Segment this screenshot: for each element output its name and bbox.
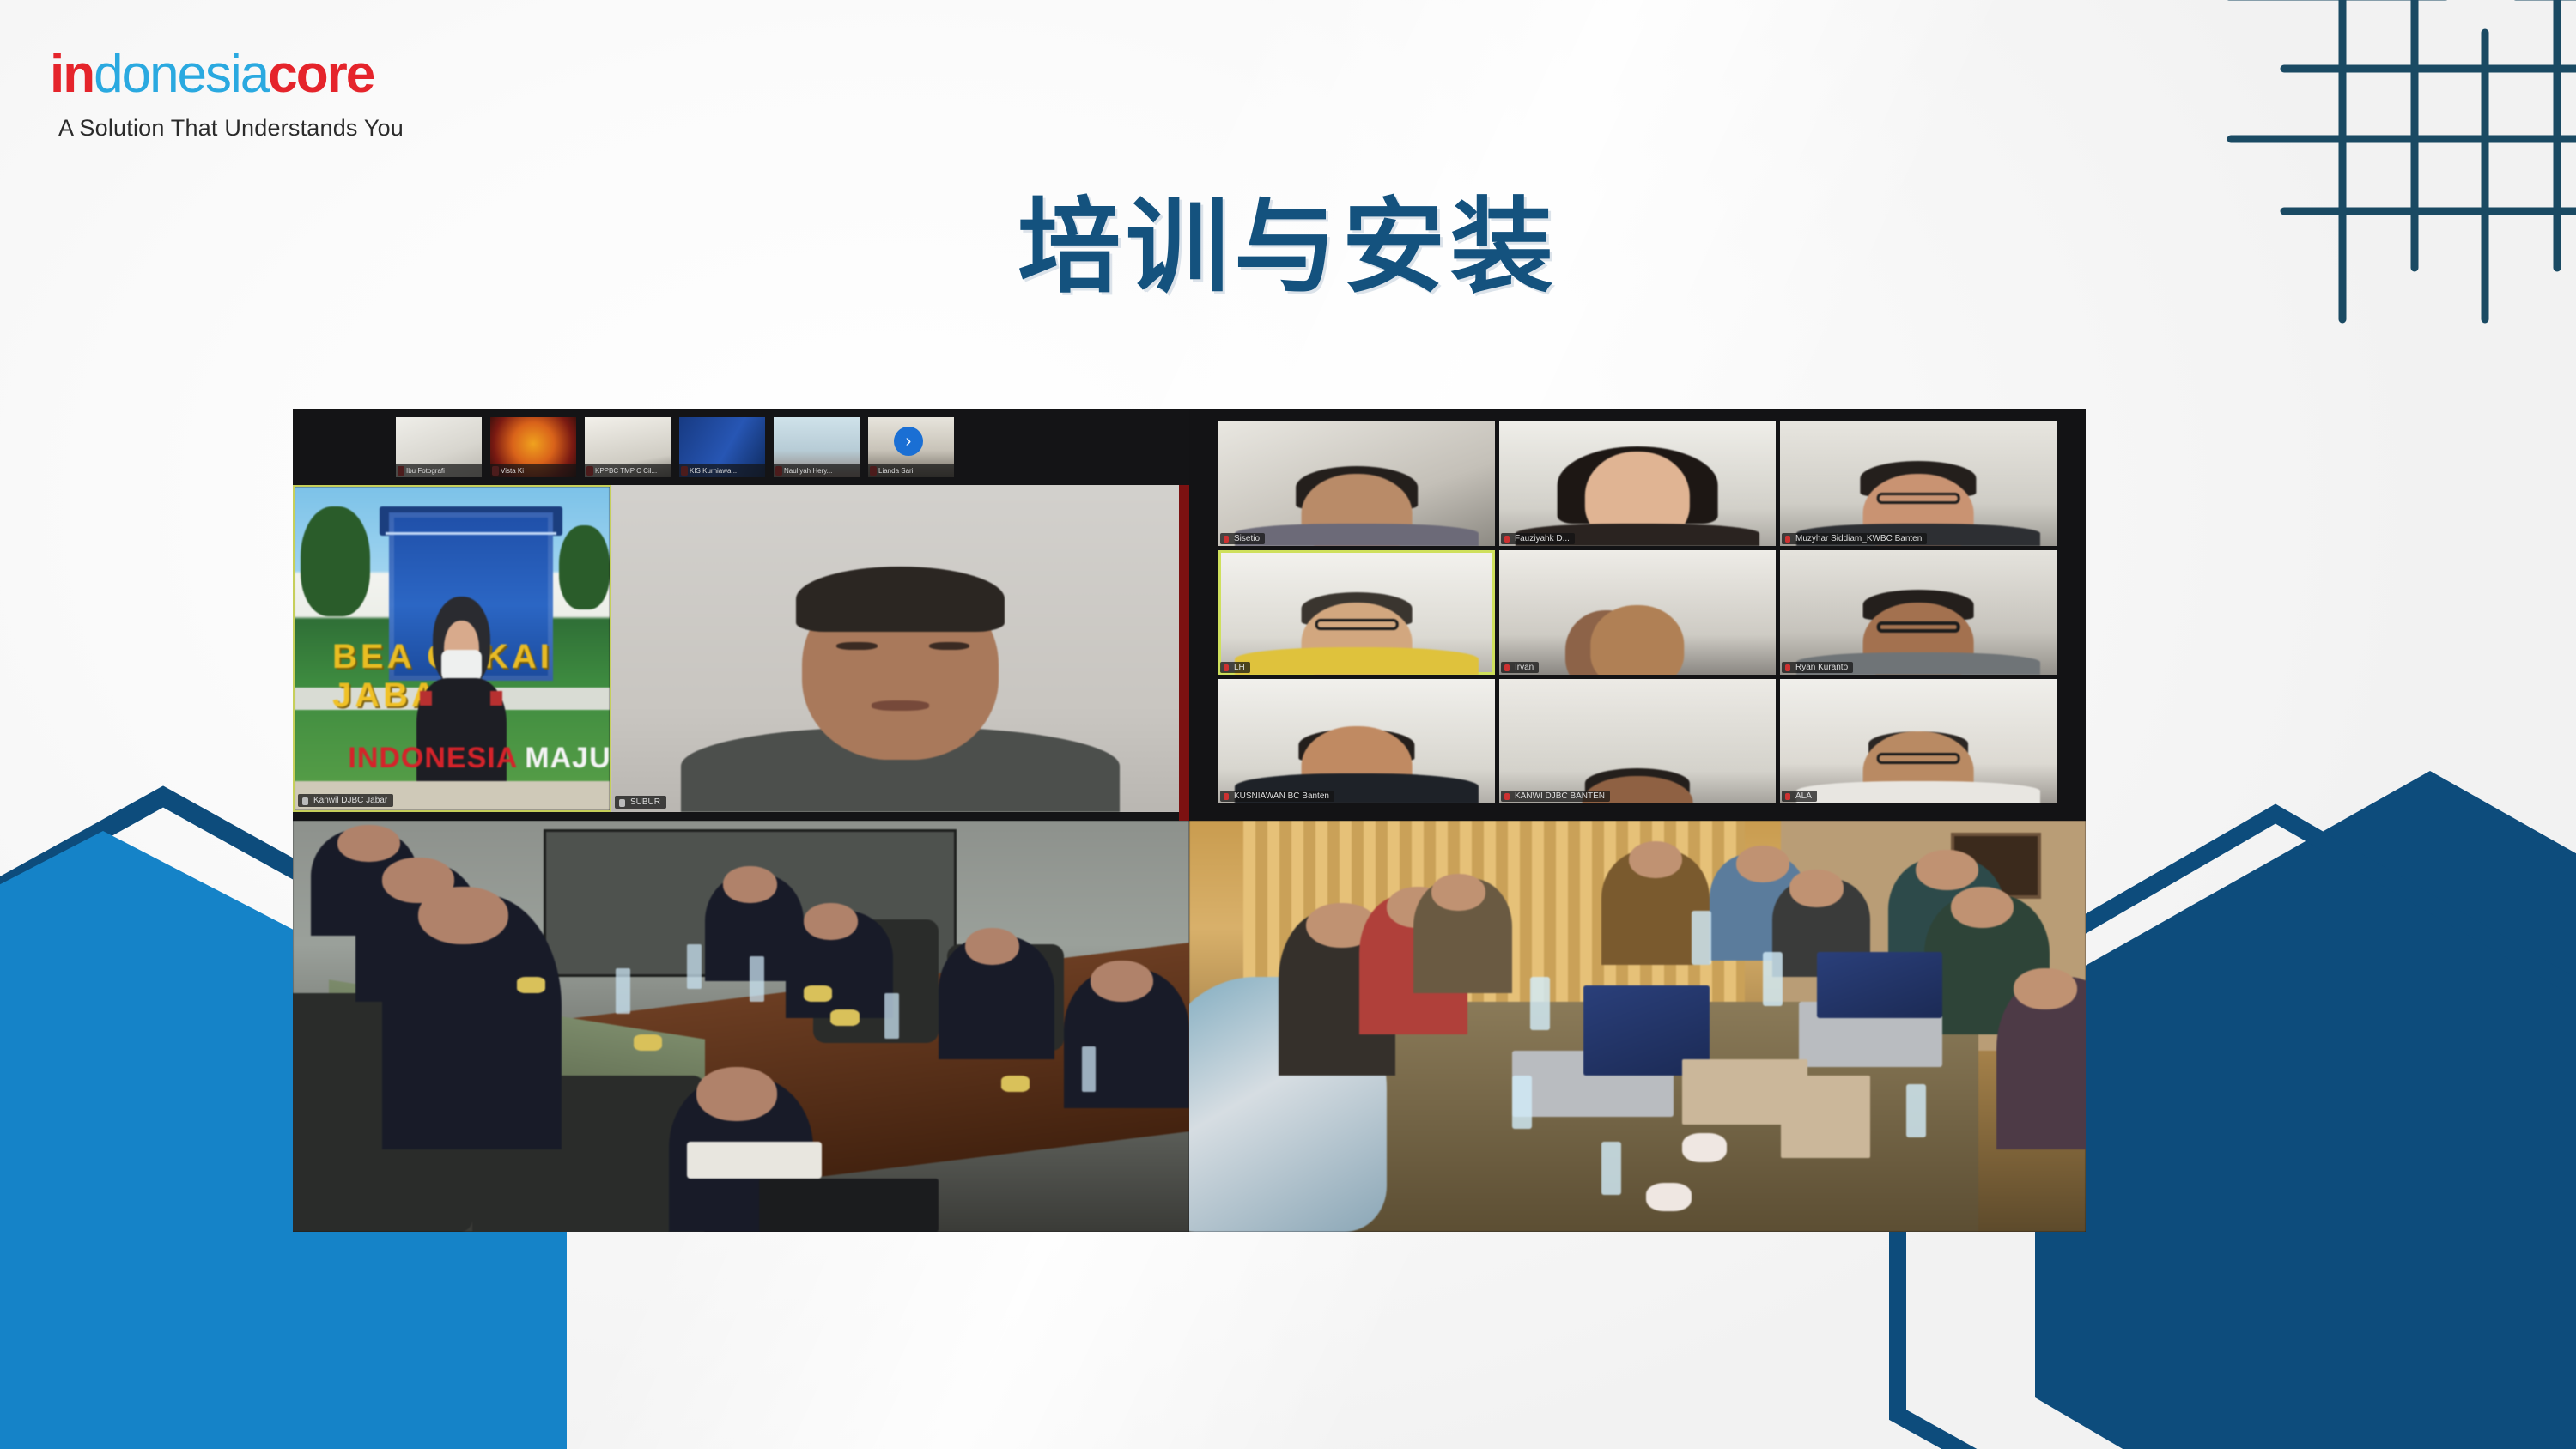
speaker-tile-secondary[interactable]: SUBUR bbox=[611, 485, 1189, 812]
meeting-room-photo bbox=[293, 821, 1189, 1232]
participant-name: Nauliyah Hery... bbox=[774, 464, 860, 477]
participant-name: Ibu Fotografi bbox=[396, 464, 482, 477]
gallery-tile[interactable]: Muzyhar Siddiam_KWBC Banten bbox=[1780, 421, 2057, 546]
gallery-tile[interactable]: KANWI DJBC BANTEN bbox=[1499, 679, 1776, 803]
broadcast-overlay: INDONESIAMAJU bbox=[348, 730, 568, 788]
gallery-tile[interactable]: Fauziyahk D... bbox=[1499, 421, 1776, 546]
participant-name: ALA bbox=[1782, 791, 1817, 802]
gallery-tile[interactable]: KUSNIAWAN BC Banten bbox=[1218, 679, 1495, 803]
logo-part-donesia: donesia bbox=[94, 45, 268, 104]
filmstrip-thumbnail[interactable]: Nauliyah Hery... bbox=[774, 417, 860, 477]
screen-edge-sliver bbox=[1179, 485, 1189, 821]
participant-name: KIS Kurniawa... bbox=[679, 464, 765, 477]
filmstrip-thumbnail[interactable]: Ibu Fotografi bbox=[396, 417, 482, 477]
participant-name: SUBUR bbox=[615, 796, 666, 809]
participant-name: LH bbox=[1220, 662, 1250, 673]
participant-name: Sisetio bbox=[1220, 533, 1265, 544]
gallery-tile[interactable]: ALA bbox=[1780, 679, 2057, 803]
participant-name: KPPBC TMP C Cil... bbox=[585, 464, 671, 477]
brand-logo: indonesiacore A Solution That Understand… bbox=[50, 48, 404, 142]
participant-name: Kanwil DJBC Jabar bbox=[298, 794, 393, 807]
gallery-tile[interactable]: Sisetio bbox=[1218, 421, 1495, 546]
filmstrip-thumbnail[interactable]: Vista Ki bbox=[490, 417, 576, 477]
page-title: 培训与安装 bbox=[0, 163, 2576, 312]
logo-part-in: in bbox=[50, 45, 94, 104]
participant-name: KUSNIAWAN BC Banten bbox=[1220, 791, 1334, 802]
speaker-stage: BEA CUKAI JABAR INDONESIAMAJU bbox=[293, 485, 1189, 821]
brand-tagline: A Solution That Understands You bbox=[58, 115, 404, 142]
bea-cukai-virtual-background: BEA CUKAI JABAR INDONESIAMAJU bbox=[295, 487, 610, 810]
participant-name: Muzyhar Siddiam_KWBC Banten bbox=[1782, 533, 1927, 544]
slide-canvas: indonesiacore A Solution That Understand… bbox=[0, 0, 2576, 1449]
participant-name: Fauziyahk D... bbox=[1501, 533, 1575, 544]
participant-gallery: Sisetio Fauziyahk D... bbox=[1218, 421, 2057, 803]
zoom-speaker-view-panel: Ibu Fotografi Vista Ki KPPBC TMP C Cil..… bbox=[293, 409, 1189, 821]
training-room-photo bbox=[1189, 821, 2086, 1232]
gallery-tile[interactable]: Ryan Kuranto bbox=[1780, 550, 2057, 675]
zoom-gallery-view-panel: Sisetio Fauziyahk D... bbox=[1189, 409, 2086, 821]
participant-name: Vista Ki bbox=[490, 464, 576, 477]
speaker-tile-primary[interactable]: BEA CUKAI JABAR INDONESIAMAJU bbox=[293, 485, 611, 812]
participant-filmstrip[interactable]: Ibu Fotografi Vista Ki KPPBC TMP C Cil..… bbox=[293, 409, 1189, 485]
participant-name: Irvan bbox=[1501, 662, 1539, 673]
media-collage: Ibu Fotografi Vista Ki KPPBC TMP C Cil..… bbox=[293, 409, 2086, 1232]
participant-name: Ryan Kuranto bbox=[1782, 662, 1853, 673]
gallery-tile-active-speaker[interactable]: LH bbox=[1218, 550, 1495, 675]
logo-part-core: core bbox=[268, 45, 374, 104]
filmstrip-thumbnail[interactable]: KIS Kurniawa... bbox=[679, 417, 765, 477]
participant-name: Lianda Sari bbox=[868, 464, 954, 477]
filmstrip-thumbnail[interactable]: KPPBC TMP C Cil... bbox=[585, 417, 671, 477]
logo-wordmark: indonesiacore bbox=[50, 48, 404, 101]
chevron-right-icon[interactable]: › bbox=[894, 427, 923, 456]
participant-name: KANWI DJBC BANTEN bbox=[1501, 791, 1610, 802]
gallery-tile[interactable]: Irvan bbox=[1499, 550, 1776, 675]
